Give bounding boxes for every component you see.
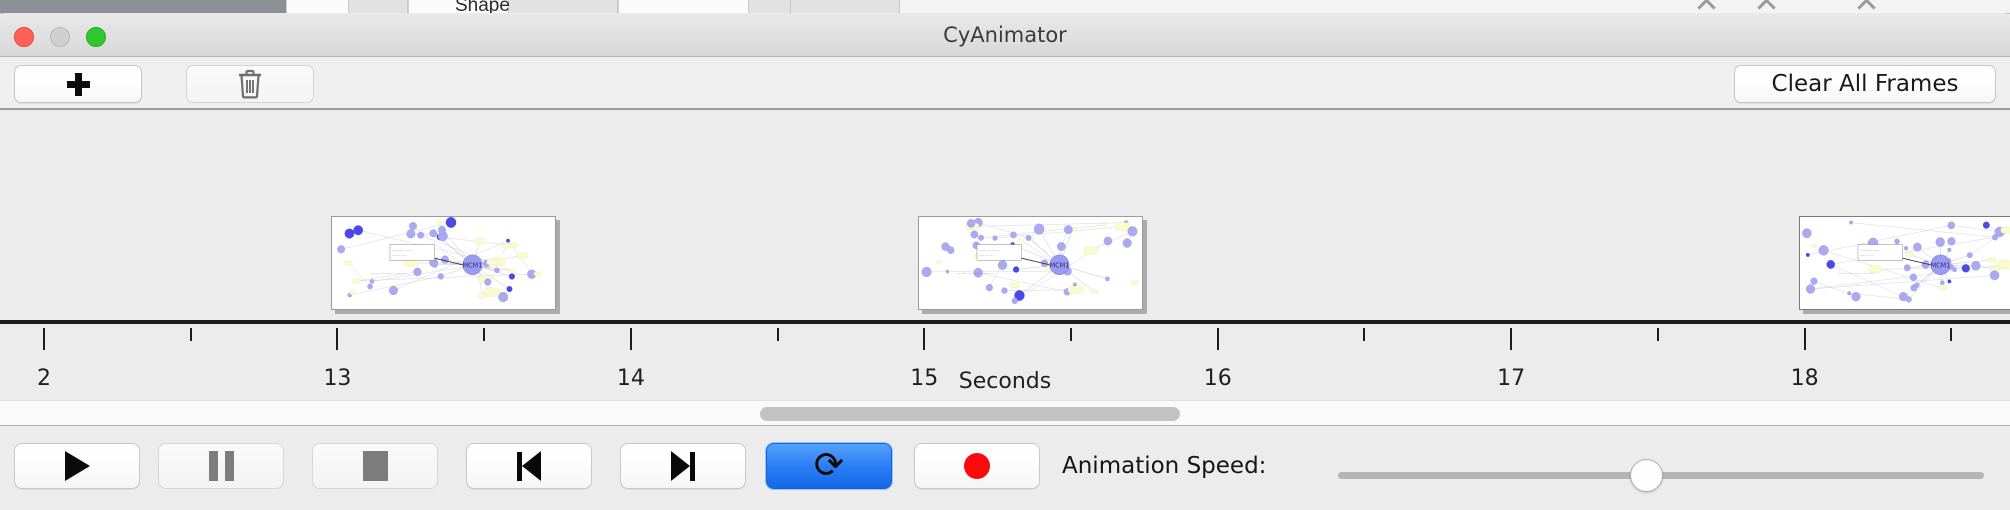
background-cell (286, 0, 348, 14)
cyanimator-window: CyAnimator Clear All Frames ............… (0, 13, 2010, 510)
scrollbar-thumb[interactable] (760, 407, 1180, 421)
svg-text:MCM1: MCM1 (1050, 261, 1070, 269)
background-tile (348, 0, 408, 14)
svg-text:..... ... ....: ..... ... .... (1860, 253, 1874, 257)
clear-all-frames-button[interactable]: Clear All Frames (1734, 65, 1996, 103)
loop-icon: ⟳ (814, 448, 844, 484)
record-icon (964, 453, 990, 479)
stop-icon (363, 451, 388, 481)
svg-text:............ .... ...: ............ .... ... (980, 248, 1000, 252)
add-frame-button[interactable] (14, 65, 142, 103)
background-tile (508, 0, 618, 14)
svg-text:... ...... ... ........ ......: ... ...... ... ........ ...... .... (1838, 271, 1874, 275)
pause-button[interactable] (158, 443, 284, 489)
timeline-axis (0, 320, 2010, 324)
background-app-strip: Shape (0, 0, 2010, 14)
pause-icon (209, 451, 234, 481)
svg-text:MCM1: MCM1 (1930, 261, 1950, 269)
skip-to-start-icon (517, 451, 541, 481)
timeline-scrollbar[interactable] (0, 400, 2010, 426)
axis-tick-major (1217, 328, 1219, 350)
stop-button[interactable] (312, 443, 438, 489)
animation-speed-thumb[interactable] (1630, 459, 1663, 492)
background-tile (790, 0, 900, 14)
skip-to-end-icon (671, 451, 695, 481)
axis-tick-minor (1950, 328, 1952, 341)
svg-text:... ...... ... ........ ......: ... ...... ... ........ ...... .... (370, 271, 406, 275)
window-title: CyAnimator (0, 13, 2010, 57)
play-icon (65, 451, 90, 481)
axis-tick-minor (190, 328, 192, 341)
skip-to-end-button[interactable] (620, 443, 746, 489)
axis-tick-minor (1070, 328, 1072, 341)
svg-text:..... ... ....: ..... ... .... (980, 253, 994, 257)
axis-tick-major (43, 328, 45, 350)
frame-thumbnail[interactable]: ............ .... ........ ... ....... .… (918, 216, 1143, 310)
skip-to-start-button[interactable] (466, 443, 592, 489)
frame-thumbnail[interactable]: ............ .... ........ ... ....... .… (1799, 216, 2010, 310)
axis-tick-major (1804, 328, 1806, 350)
play-button[interactable] (14, 443, 140, 489)
axis-tick-minor (777, 328, 779, 341)
delete-frame-button[interactable] (186, 65, 314, 103)
axis-tick-major (1510, 328, 1512, 350)
axis-tick-major (336, 328, 338, 350)
window-titlebar: CyAnimator (0, 13, 2010, 57)
frame-thumbnail[interactable]: ............ .... ........ ... ....... .… (331, 216, 556, 310)
axis-title: Seconds (0, 369, 2010, 394)
axis-tick-major (630, 328, 632, 350)
clear-all-frames-label: Clear All Frames (1772, 71, 1959, 97)
svg-text:............ .... ...: ............ .... ... (1860, 248, 1880, 252)
chevron-icon (1697, 0, 1715, 14)
axis-tick-minor (483, 328, 485, 341)
chevron-icon (1757, 0, 1775, 14)
frame-toolbar: Clear All Frames (0, 57, 2010, 110)
chevron-icon (1857, 0, 1875, 14)
trash-icon (237, 69, 263, 99)
playback-toolbar: ⟳ Animation Speed: (0, 426, 2010, 510)
axis-tick-major (923, 328, 925, 350)
svg-text:... ...... ... ........ ......: ... ...... ... ........ ...... .... (957, 271, 993, 275)
record-button[interactable] (914, 443, 1040, 489)
animation-speed-label: Animation Speed: (1062, 453, 1266, 479)
background-dark-panel (0, 0, 286, 14)
background-cell (618, 0, 748, 14)
loop-button[interactable]: ⟳ (766, 443, 892, 489)
background-app-label: Shape (455, 0, 510, 14)
svg-text:..... ... ....: ..... ... .... (393, 253, 407, 257)
svg-text:MCM1: MCM1 (463, 261, 483, 269)
svg-text:............ .... ...: ............ .... ... (393, 248, 413, 252)
timeline-panel[interactable]: ............ .... ........ ... ....... .… (0, 110, 2010, 400)
axis-tick-minor (1657, 328, 1659, 341)
plus-icon (67, 73, 90, 96)
axis-tick-minor (1363, 328, 1365, 341)
